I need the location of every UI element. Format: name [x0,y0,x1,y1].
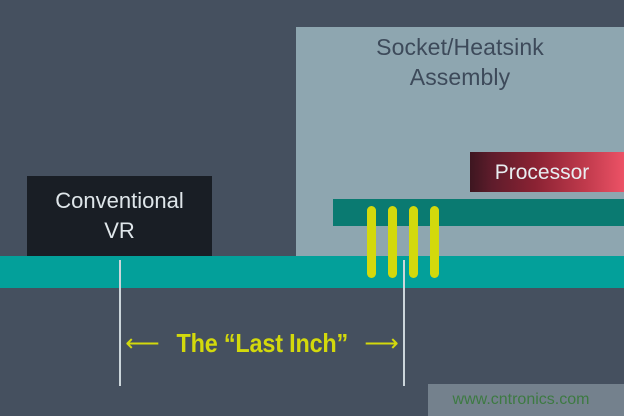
vr-label-line-2: VR [27,216,212,246]
socket-pin-4 [430,206,439,278]
last-inch-annotation: ⟵ The “Last Inch” ⟶ [119,326,405,360]
socket-label-line-2: Assembly [296,62,624,92]
socket-pin-3 [409,206,418,278]
socket-pin-2 [388,206,397,278]
diagram-canvas: Socket/Heatsink Assembly Processor Conve… [0,0,624,416]
pcb-board-bar [0,256,624,288]
socket-heatsink-assembly-label: Socket/Heatsink Assembly [296,32,624,92]
measure-guide-line-left [119,260,121,386]
socket-pin-1 [367,206,376,278]
socket-label-line-1: Socket/Heatsink [296,32,624,62]
right-arrow-icon: ⟶ [364,331,398,355]
vr-label-line-1: Conventional [27,186,212,216]
watermark-label: www.cntronics.com [428,389,614,411]
left-arrow-icon: ⟵ [125,331,159,355]
conventional-vr-label: Conventional VR [27,186,212,246]
processor-label: Processor [470,160,614,185]
last-inch-label: The “Last Inch” [176,329,348,357]
measure-guide-line-right [403,260,405,386]
socket-substrate-bar [333,199,624,226]
